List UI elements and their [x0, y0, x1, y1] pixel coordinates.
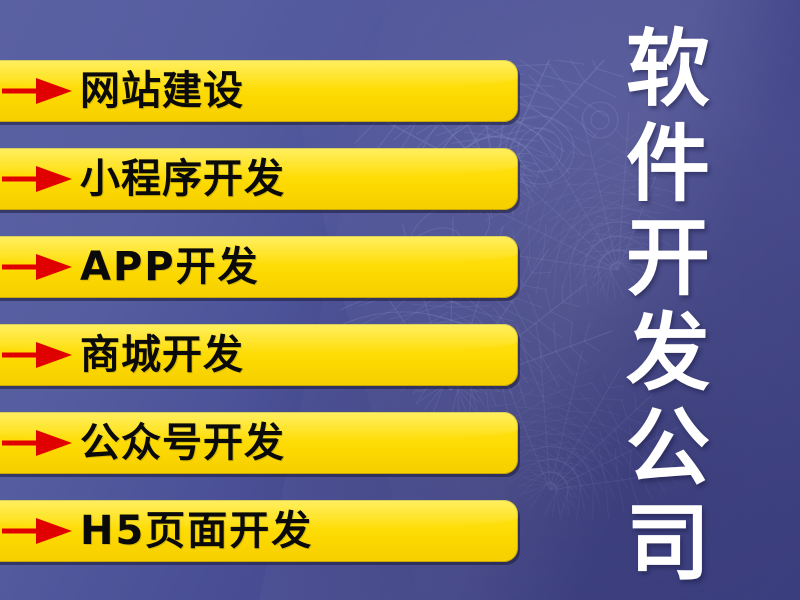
service-label-3: APP开发 [80, 247, 260, 287]
headline-char-2: 件 [626, 123, 710, 205]
service-label-2: 小程序开发 [80, 159, 285, 199]
promo-poster: 网站建设 小程序开发 [0, 0, 800, 600]
red-right-arrow-icon [0, 340, 74, 370]
service-bar-3[interactable]: APP开发 [0, 236, 518, 298]
red-right-arrow-icon [0, 76, 74, 106]
headline-char-5: 公 [626, 407, 710, 489]
service-bar-4[interactable]: 商城开发 [0, 324, 518, 386]
red-right-arrow-icon [0, 252, 74, 282]
headline-char-3: 开 [626, 217, 710, 299]
service-bar-1[interactable]: 网站建设 [0, 60, 518, 122]
service-label-1: 网站建设 [80, 71, 244, 111]
service-label-6: H5页面开发 [80, 511, 313, 551]
red-right-arrow-icon [0, 428, 74, 458]
red-right-arrow-icon [0, 516, 74, 546]
headline-char-4: 发 [626, 312, 710, 394]
service-bar-5[interactable]: 公众号开发 [0, 412, 518, 474]
service-label-4: 商城开发 [80, 335, 244, 375]
headline-char-6: 司 [626, 502, 710, 584]
service-label-5: 公众号开发 [80, 423, 285, 463]
vertical-headline: 软 件 开 发 公 司 [604, 28, 732, 584]
red-right-arrow-icon [0, 164, 74, 194]
service-bar-2[interactable]: 小程序开发 [0, 148, 518, 210]
service-bar-6[interactable]: H5页面开发 [0, 500, 518, 562]
headline-char-1: 软 [626, 28, 710, 110]
